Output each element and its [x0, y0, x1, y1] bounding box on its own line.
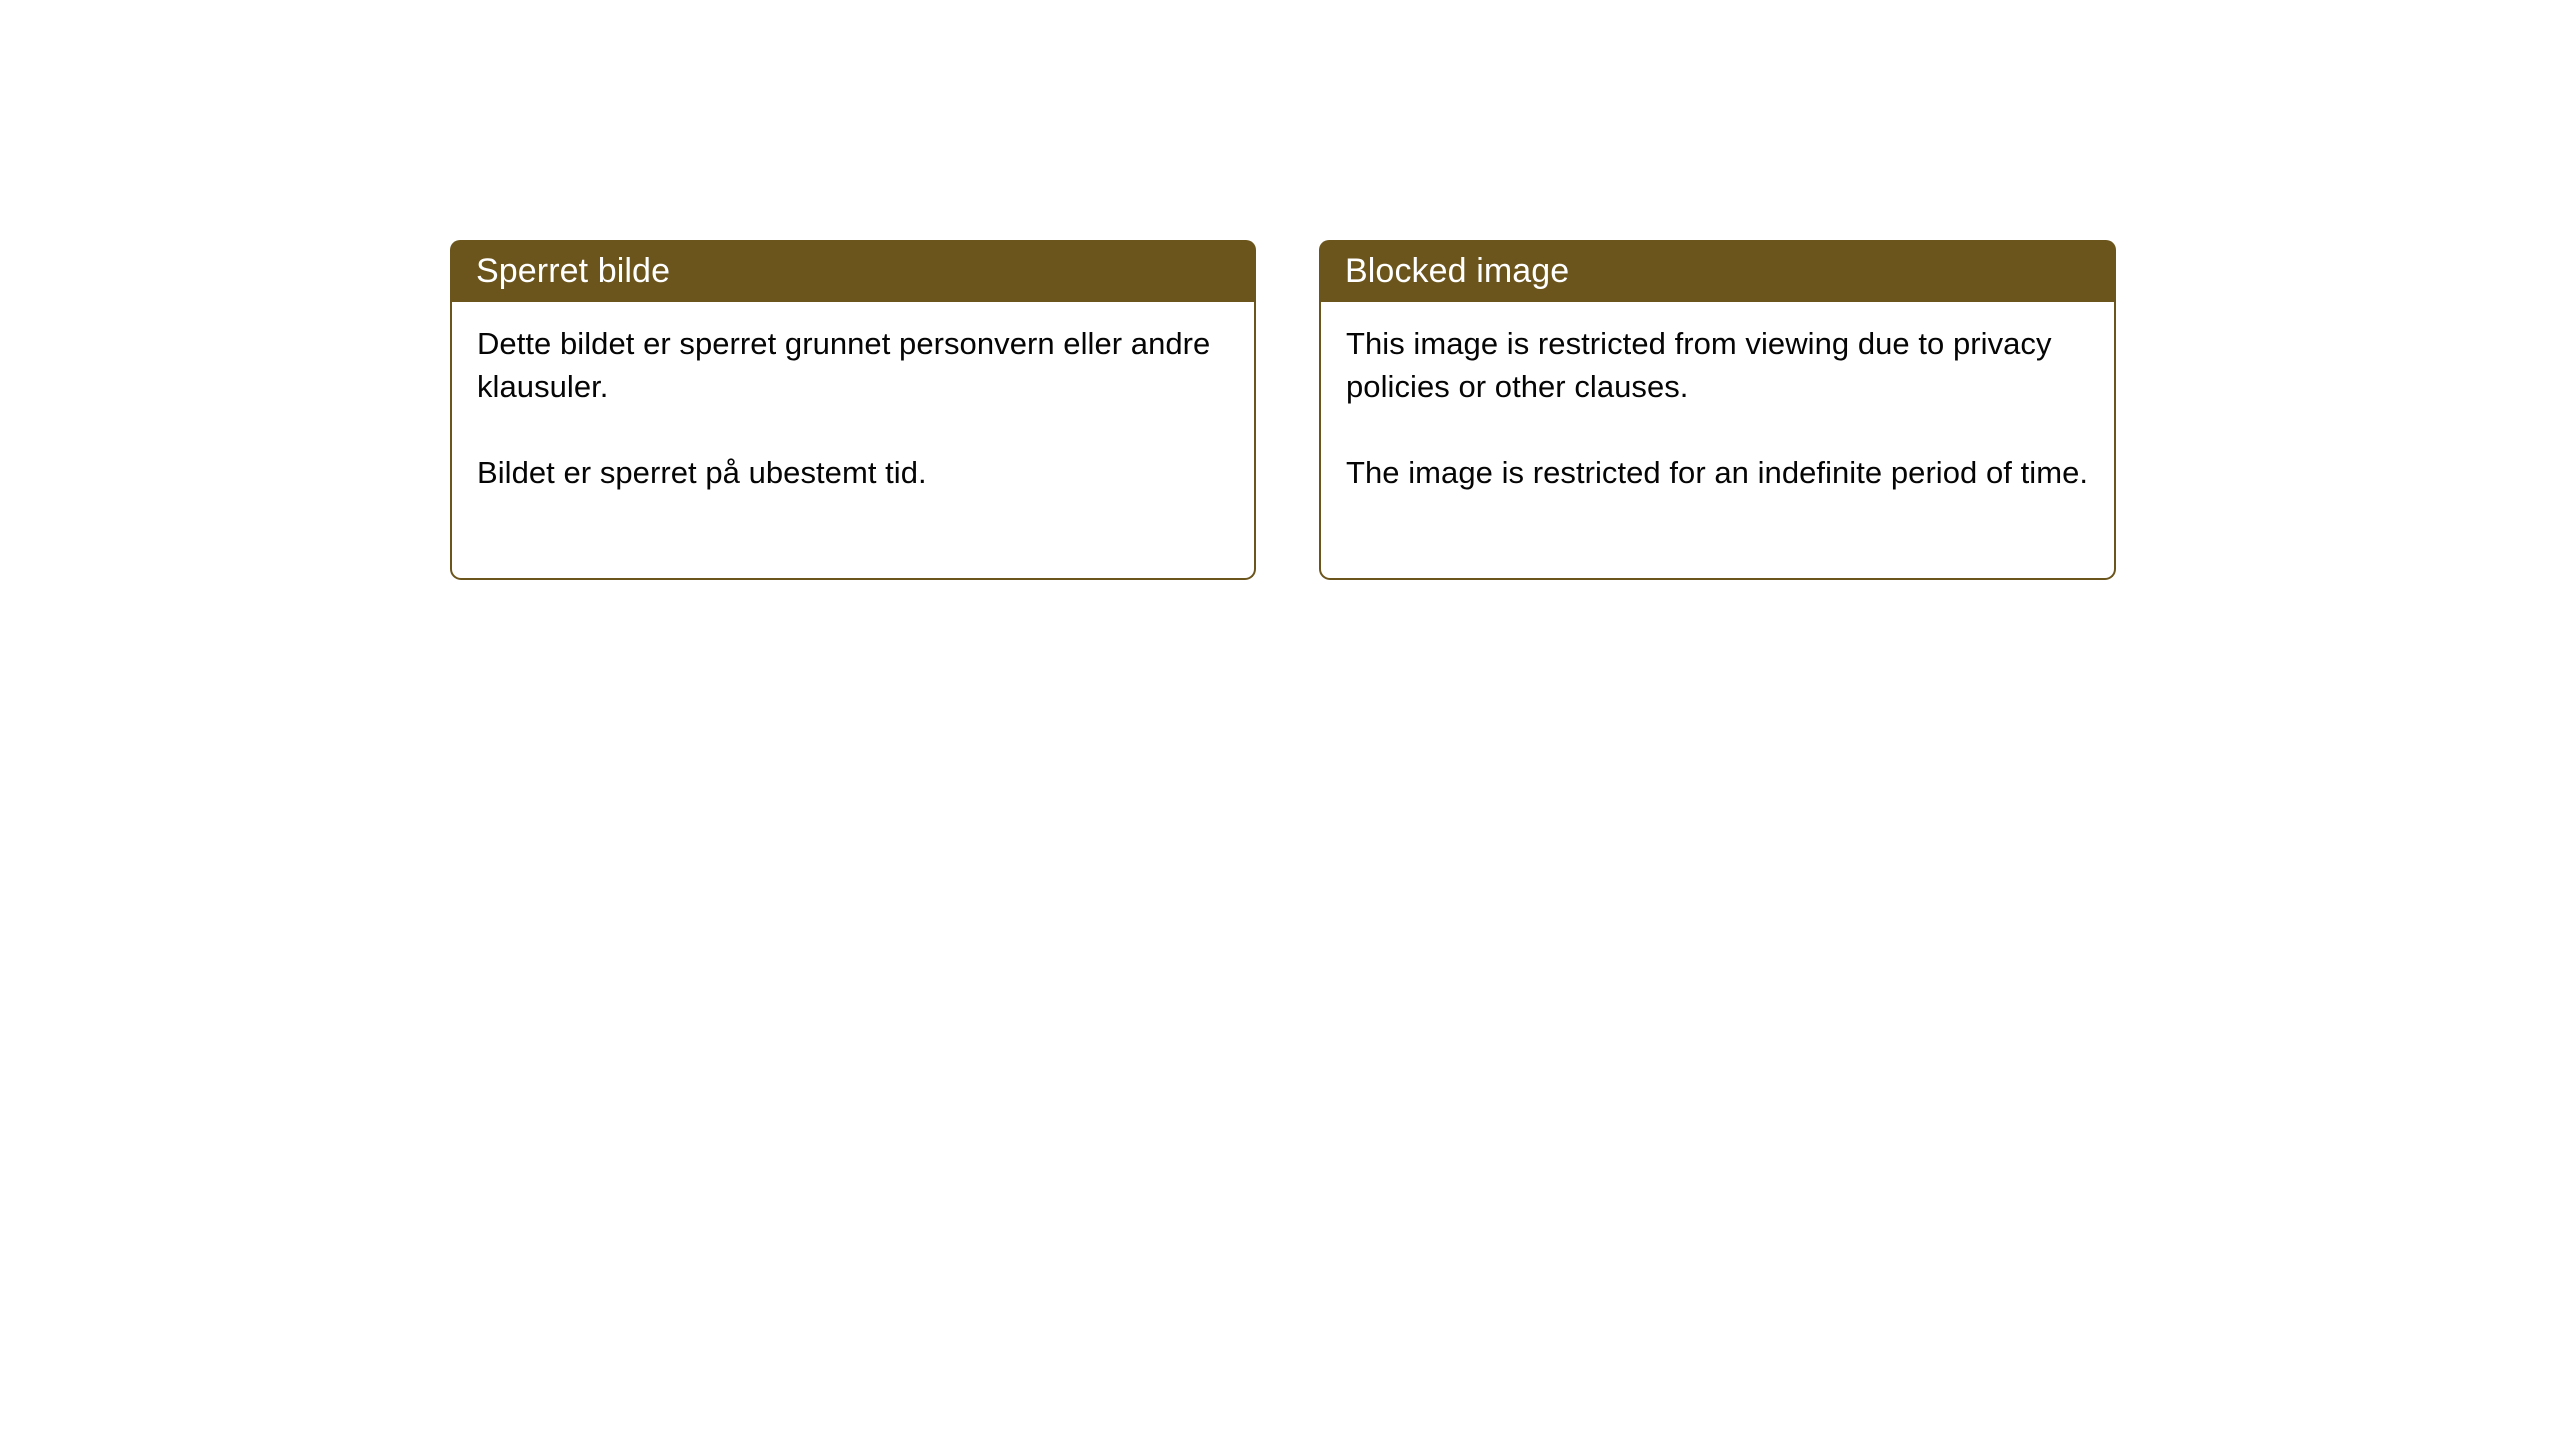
- card-title-english: Blocked image: [1345, 252, 1569, 290]
- card-paragraph-primary-english: This image is restricted from viewing du…: [1346, 322, 2090, 408]
- card-paragraph-secondary-english: The image is restricted for an indefinit…: [1346, 451, 2090, 494]
- card-paragraph-primary-norwegian: Dette bildet er sperret grunnet personve…: [477, 322, 1230, 408]
- paragraph-spacer: [477, 408, 1230, 451]
- card-body-english: This image is restricted from viewing du…: [1319, 302, 2116, 580]
- paragraph-spacer: [1346, 408, 2090, 451]
- card-body-norwegian: Dette bildet er sperret grunnet personve…: [450, 302, 1256, 580]
- card-title-norwegian: Sperret bilde: [476, 252, 670, 290]
- card-paragraph-secondary-norwegian: Bildet er sperret på ubestemt tid.: [477, 451, 1230, 494]
- card-header-english: Blocked image: [1319, 240, 2116, 302]
- blocked-image-card-english: Blocked image This image is restricted f…: [1319, 240, 2116, 580]
- blocked-image-card-norwegian: Sperret bilde Dette bildet er sperret gr…: [450, 240, 1256, 580]
- blocked-image-notice-group: Sperret bilde Dette bildet er sperret gr…: [450, 240, 2116, 580]
- card-header-norwegian: Sperret bilde: [450, 240, 1256, 302]
